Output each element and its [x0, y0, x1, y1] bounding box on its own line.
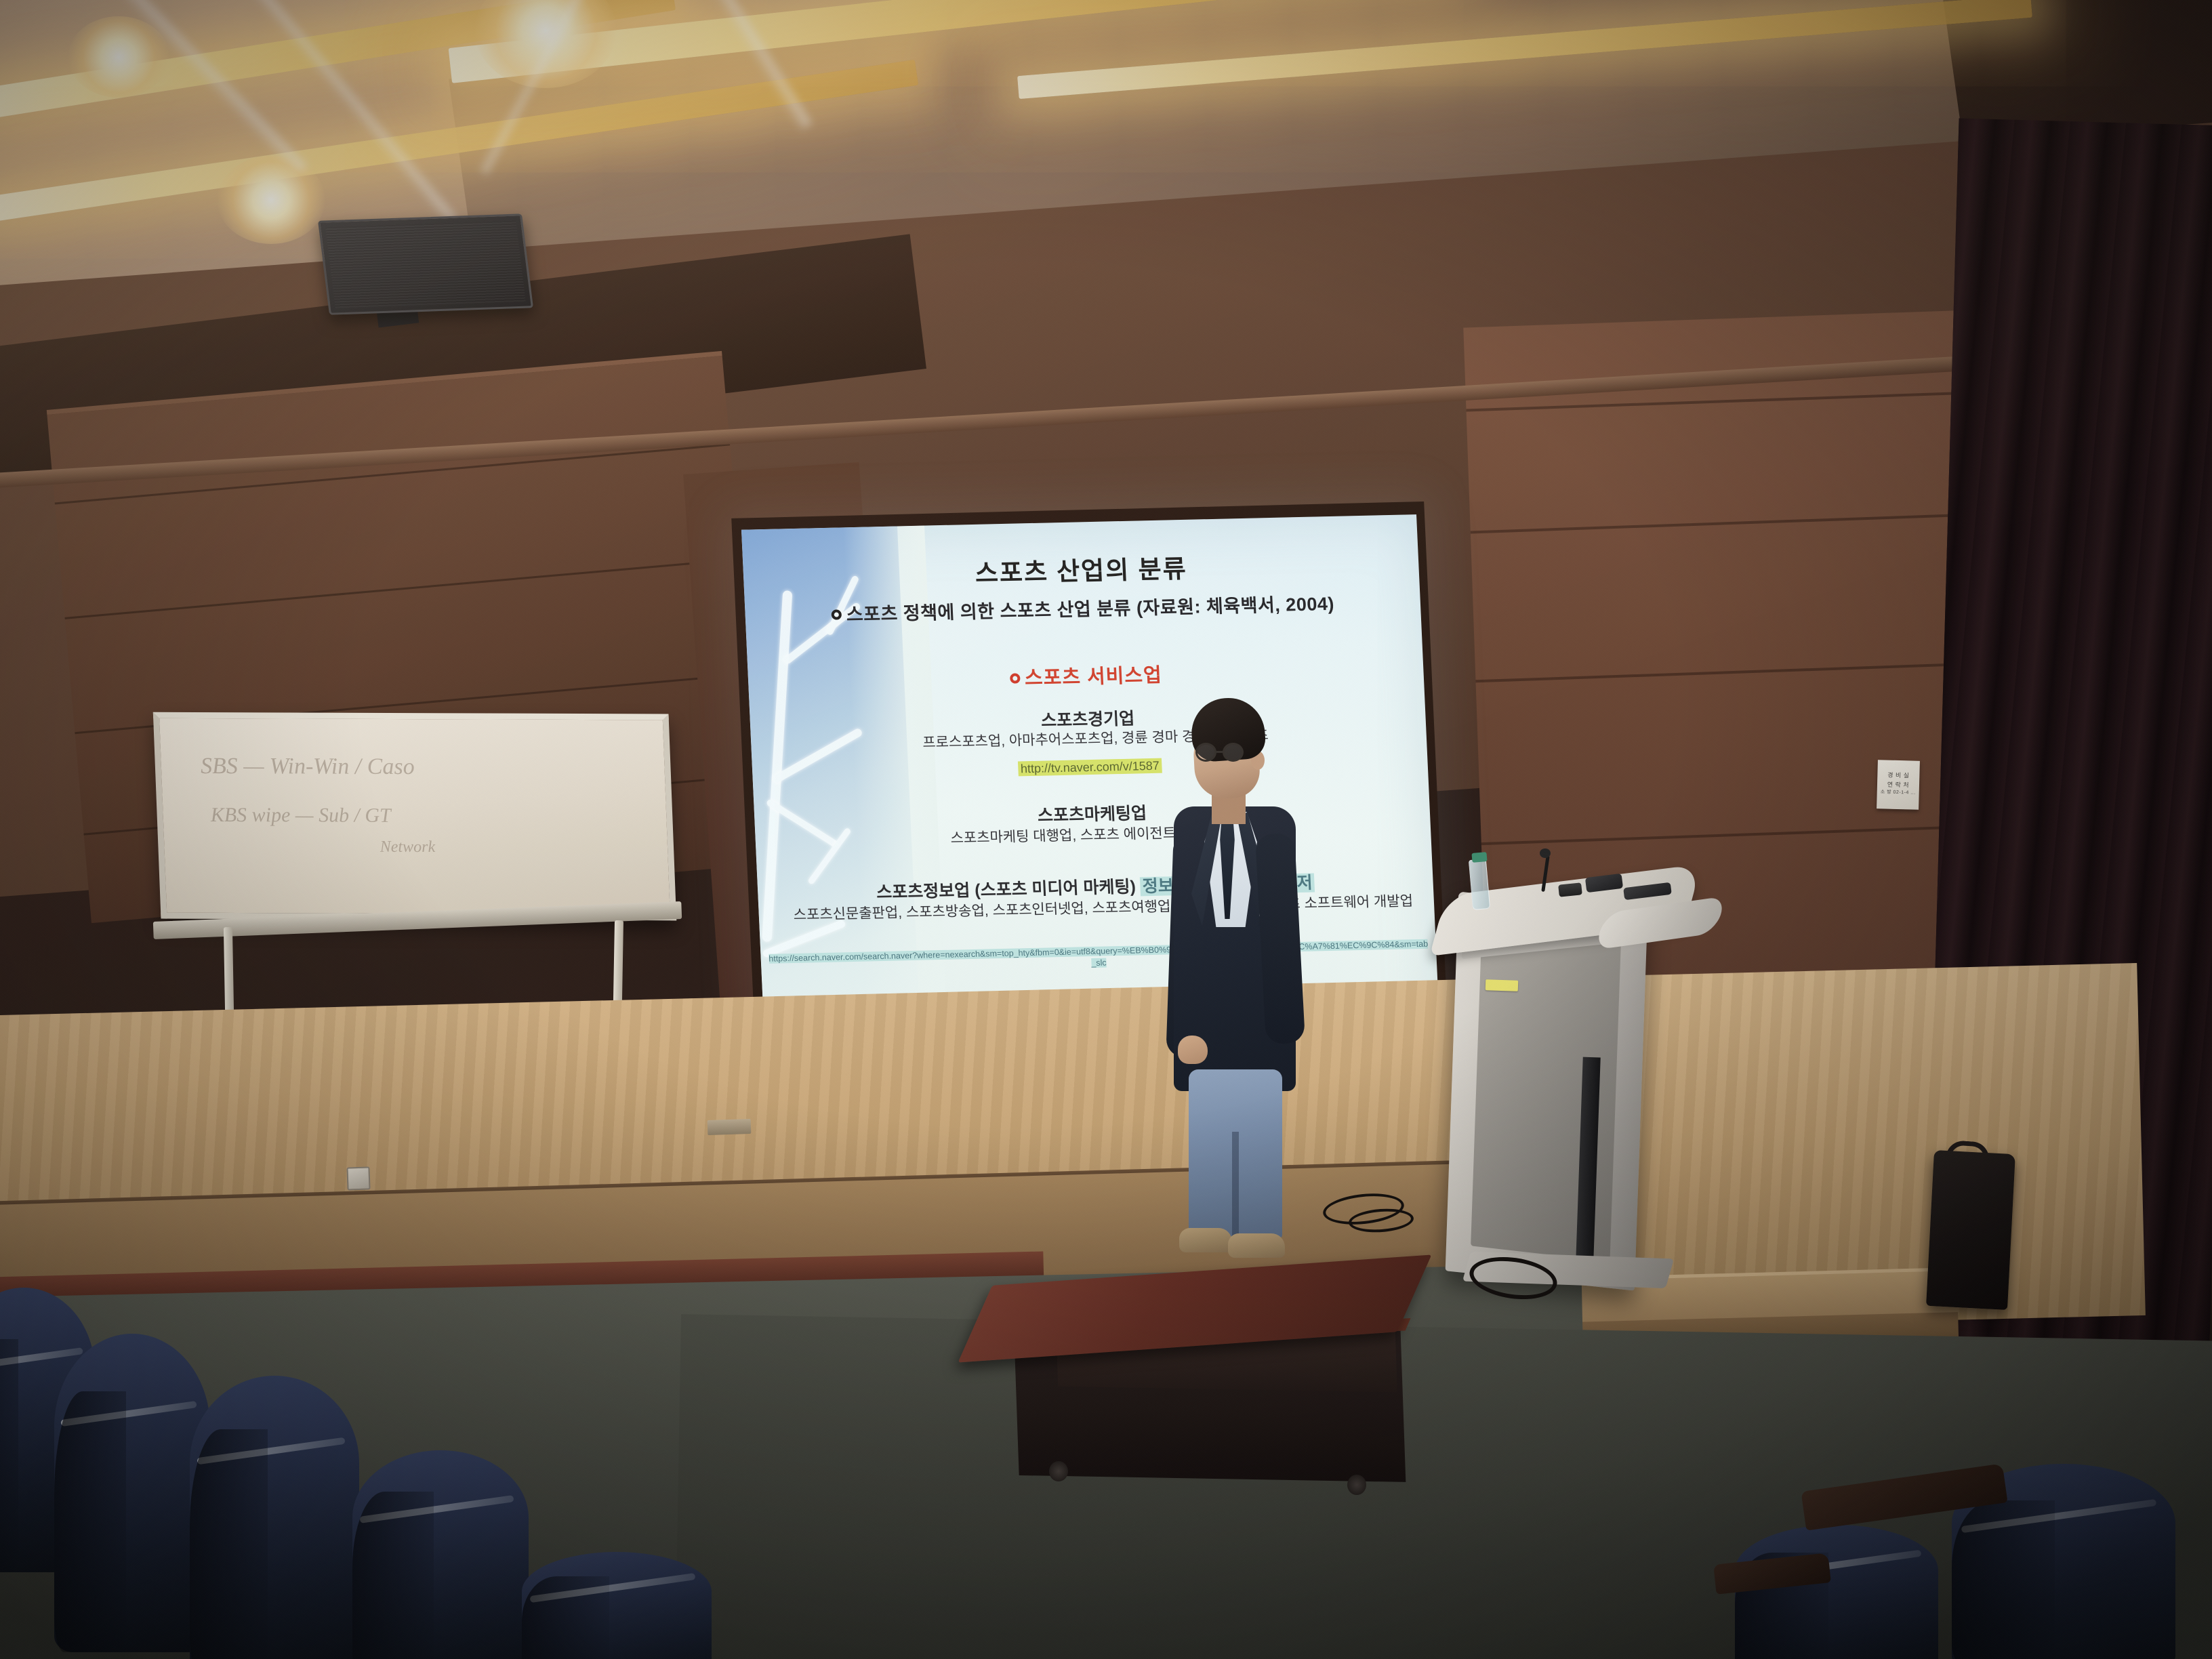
slide-link-2[interactable]: https://search.naver.com/search.naver?wh…	[767, 939, 1430, 977]
whiteboard-ghost-line-1: KBS wipe — Sub / GT	[210, 804, 391, 827]
presenter-hand	[1178, 1036, 1208, 1064]
wall-notice-sign: 경 비 실 연 락 처 소 방 02-1-4 ...	[1877, 760, 1920, 810]
auditorium-scene: 경 비 실 연 락 처 소 방 02-1-4 ... 스포츠 산업의 분류 스포…	[0, 0, 2212, 1659]
whiteboard[interactable]: SBS — Win-Win / Caso KBS wipe — Sub / GT…	[153, 712, 676, 920]
presenter-jeans-seam	[1232, 1132, 1239, 1240]
presenter	[1152, 698, 1315, 1240]
pa-speaker	[318, 213, 533, 314]
table-caster	[1049, 1461, 1068, 1481]
ceiling-downlight	[217, 156, 325, 244]
presenter-shoe	[1179, 1228, 1232, 1252]
stage-floor-plate	[708, 1119, 752, 1135]
auditorium-seat[interactable]	[352, 1450, 529, 1659]
auditorium-seat[interactable]	[522, 1552, 712, 1659]
microphone-icon[interactable]	[1540, 848, 1551, 858]
slide-subtitle: 스포츠 정책에 의한 스포츠 산업 분류 (자료원: 체육백서, 2004)	[745, 587, 1421, 629]
bottle-cap[interactable]	[1471, 852, 1487, 863]
bullet-dot-icon	[831, 610, 842, 620]
slide-subtitle-text: 스포츠 정책에 의한 스포츠 산업 분류 (자료원: 체육백서, 2004)	[846, 594, 1334, 625]
lectern-asset-sticker	[1486, 979, 1519, 991]
whiteboard-ghost-line-2: Network	[380, 838, 435, 857]
wall-sign-line-3: 소 방 02-1-4 ...	[1877, 789, 1919, 797]
bullet-dot-red-icon	[1010, 673, 1021, 683]
microphone-base	[1558, 882, 1582, 897]
table-caster	[1347, 1475, 1366, 1495]
wall-power-outlet	[346, 1166, 370, 1190]
auditorium-seat[interactable]	[54, 1334, 210, 1652]
slide-link-0-text: http://tv.naver.com/v/1587	[1018, 758, 1163, 777]
slide-link-2-text: https://search.naver.com/search.naver?wh…	[769, 939, 1428, 968]
slide-service-heading-text: 스포츠 서비스업	[1024, 665, 1162, 690]
eyeglasses-icon	[1194, 743, 1259, 763]
slide-title: 스포츠 산업의 분류	[743, 543, 1419, 595]
auditorium-seat[interactable]	[1735, 1525, 1938, 1659]
slide-category-heading-2-text: 스포츠정보업 (스포츠 미디어 마케팅)	[876, 878, 1136, 903]
slide-link-0[interactable]: http://tv.naver.com/v/1587	[752, 753, 1428, 783]
briefcase[interactable]	[1926, 1150, 2015, 1310]
speaker-grill	[325, 221, 526, 308]
auditorium-seat[interactable]	[190, 1376, 359, 1659]
whiteboard-ghost-line-0: SBS — Win-Win / Caso	[200, 754, 415, 780]
presenter-shoe	[1228, 1233, 1285, 1258]
slide-service-heading: 스포츠 서비스업	[747, 653, 1424, 697]
